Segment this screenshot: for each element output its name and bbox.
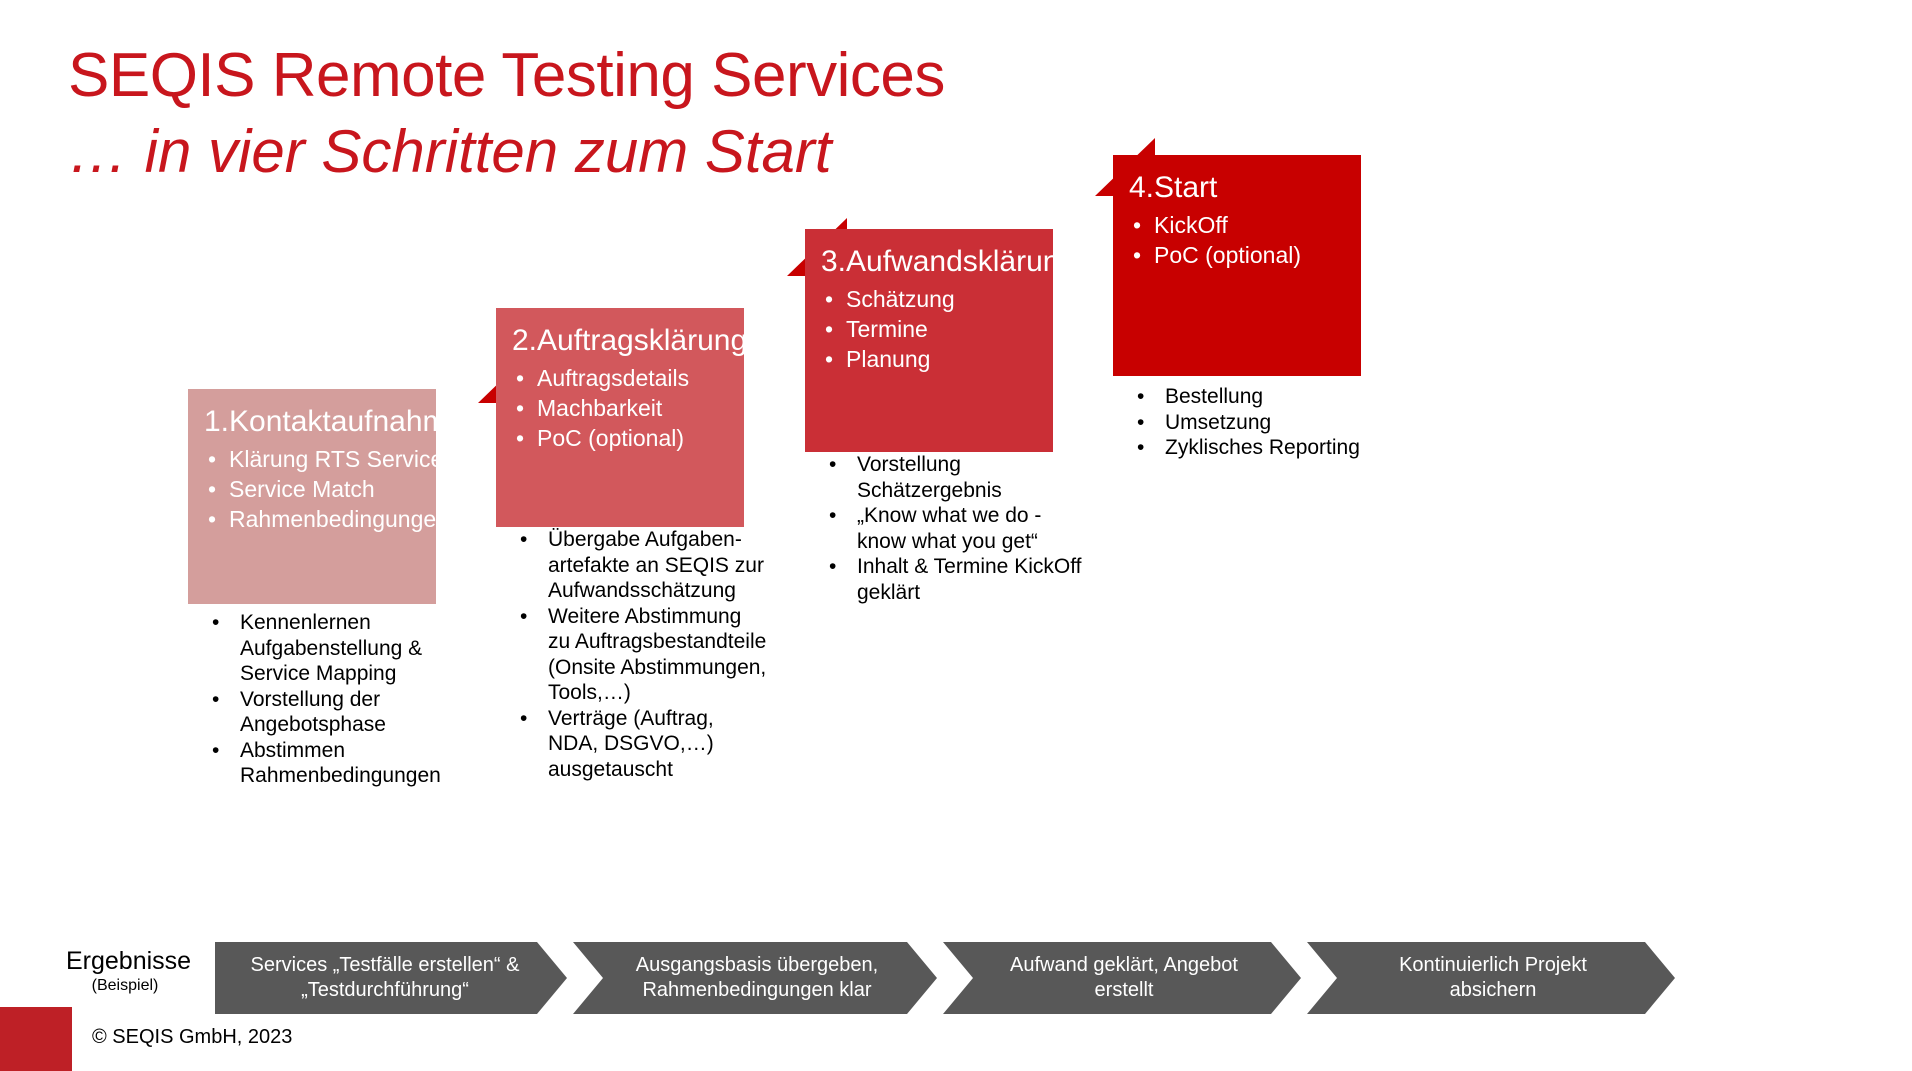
- step-details-1: Kennenlernen Aufgabenstellung & Service …: [188, 610, 458, 789]
- step-bullet: Machbarkeit: [512, 393, 728, 423]
- step-bullet: PoC (optional): [512, 423, 728, 453]
- page-subtitle: … in vier Schritten zum Start: [68, 114, 1268, 190]
- step-bullet: Auftragsdetails: [512, 363, 728, 393]
- step-bullets-4: KickOff PoC (optional): [1129, 210, 1345, 270]
- step-bullet: Rahmenbedingungen: [204, 504, 420, 534]
- result-chevron-1[interactable]: Services „Testfälle erstellen“ & „Testdu…: [215, 942, 567, 1014]
- step-bullets-2: Auftragsdetails Machbarkeit PoC (optiona…: [512, 363, 728, 453]
- step-title-3: 3.Aufwandsklärung: [821, 243, 1037, 280]
- detail-item: Übergabe Aufgaben-artefakte an SEQIS zur…: [496, 527, 768, 604]
- results-label: Ergebnisse (Beispiel): [66, 947, 184, 996]
- step-bullet: Klärung RTS Services: [204, 444, 420, 474]
- result-chevron-4[interactable]: Kontinuierlich Projekt absichern: [1307, 942, 1675, 1014]
- detail-item: Vorstellung der Angebotsphase: [188, 687, 458, 738]
- detail-item: Zyklisches Reporting: [1113, 435, 1413, 461]
- result-chevron-2[interactable]: Ausgangsbasis übergeben, Rahmenbedingung…: [573, 942, 937, 1014]
- results-chevron-row: Services „Testfälle erstellen“ & „Testdu…: [215, 942, 1675, 1014]
- detail-item: Inhalt & Termine KickOff geklärt: [805, 554, 1095, 605]
- copyright-text: © SEQIS GmbH, 2023: [92, 1024, 292, 1050]
- detail-item: Umsetzung: [1113, 410, 1413, 436]
- step-title-1: 1.Kontaktaufnahme: [204, 403, 420, 440]
- step-details-4: Bestellung Umsetzung Zyklisches Reportin…: [1113, 384, 1413, 461]
- step-bullet: Planung: [821, 344, 1037, 374]
- brand-mark: [0, 1007, 72, 1071]
- step-bullet: KickOff: [1129, 210, 1345, 240]
- detail-item: Verträge (Auftrag, NDA, DSGVO,…) ausgeta…: [496, 706, 768, 783]
- step-details-2: Übergabe Aufgaben-artefakte an SEQIS zur…: [496, 527, 768, 782]
- page-title: SEQIS Remote Testing Services: [68, 38, 1268, 114]
- detail-item: Weitere Abstimmung zu Auftragsbestandtei…: [496, 604, 768, 706]
- step-bullets-3: Schätzung Termine Planung: [821, 284, 1037, 374]
- detail-item: Abstimmen Rahmenbedingungen: [188, 738, 458, 789]
- step-details-3: Vorstellung Schätzergebnis „Know what we…: [805, 452, 1095, 605]
- detail-item: Kennenlernen Aufgabenstellung & Service …: [188, 610, 458, 687]
- step-title-4: 4.Start: [1129, 169, 1345, 206]
- detail-item: Bestellung: [1113, 384, 1413, 410]
- step-bullet: Termine: [821, 314, 1037, 344]
- step-box-2[interactable]: 2.Auftragsklärung Auftragsdetails Machba…: [496, 308, 744, 527]
- step-box-4[interactable]: 4.Start KickOff PoC (optional): [1113, 155, 1361, 376]
- step-bullets-1: Klärung RTS Services Service Match Rahme…: [204, 444, 420, 534]
- detail-item: Vorstellung Schätzergebnis: [805, 452, 1095, 503]
- step-title-2: 2.Auftragsklärung: [512, 322, 728, 359]
- slide-canvas: SEQIS Remote Testing Services … in vier …: [0, 0, 1912, 1071]
- detail-item: „Know what we do - know what you get“: [805, 503, 1095, 554]
- results-label-main: Ergebnisse: [66, 947, 184, 976]
- result-chevron-3[interactable]: Aufwand geklärt, Angebot erstellt: [943, 942, 1301, 1014]
- results-label-sub: (Beispiel): [66, 976, 184, 996]
- step-box-3[interactable]: 3.Aufwandsklärung Schätzung Termine Plan…: [805, 229, 1053, 452]
- step-bullet: Schätzung: [821, 284, 1037, 314]
- step-bullet: Service Match: [204, 474, 420, 504]
- step-bullet: PoC (optional): [1129, 240, 1345, 270]
- step-box-1[interactable]: 1.Kontaktaufnahme Klärung RTS Services S…: [188, 389, 436, 604]
- title-block: SEQIS Remote Testing Services … in vier …: [68, 38, 1268, 190]
